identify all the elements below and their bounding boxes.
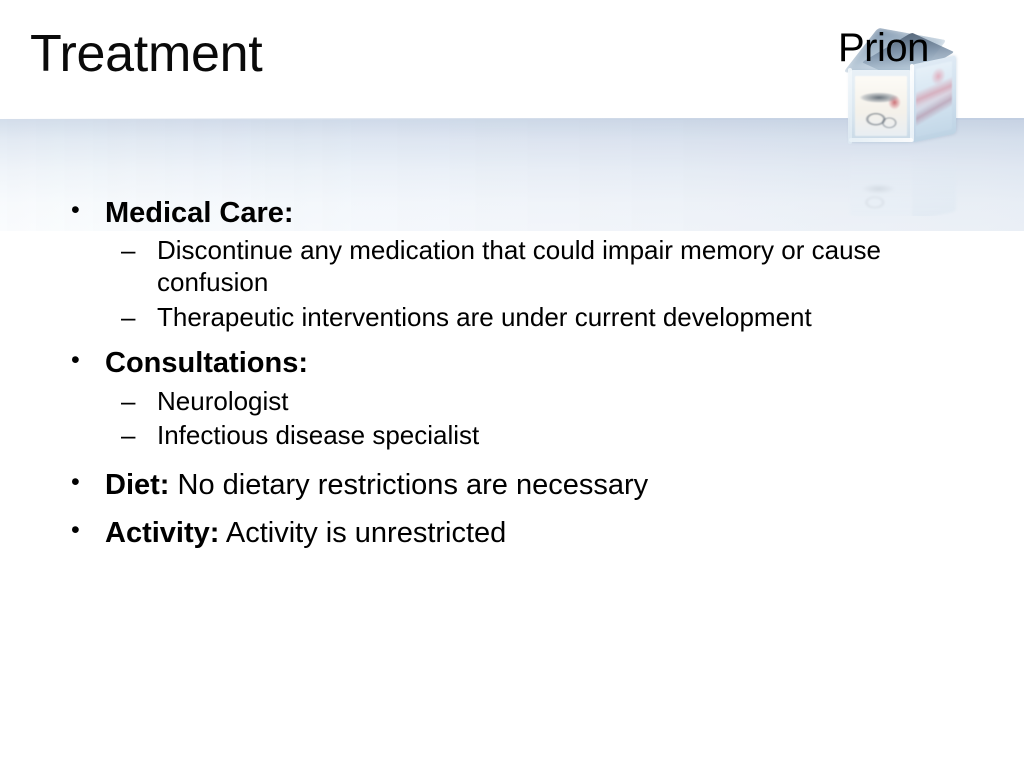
- sub-bullet-marker-icon: –: [121, 386, 135, 418]
- bullet-item-medical-care: • Medical Care:: [64, 194, 894, 232]
- sub-bullet-label: Therapeutic interventions are under curr…: [157, 302, 812, 332]
- cube-edge-bottom: [849, 138, 913, 142]
- bullet-lead-label: Activity:: [105, 517, 219, 549]
- cube-edge-vertical: [910, 64, 914, 142]
- bullet-item-consultations: • Consultations:: [64, 344, 894, 382]
- bullet-lead-label: Consultations:: [105, 347, 308, 379]
- prion-cube-logo: Prion: [836, 22, 972, 212]
- spacer: [64, 455, 894, 466]
- sub-bullet-item: – Neurologist: [64, 386, 894, 418]
- sub-bullet-label: Neurologist: [157, 386, 289, 416]
- bullet-rest-label: Activity is unrestricted: [219, 517, 506, 549]
- page-title: Treatment: [30, 27, 262, 82]
- spacer: [64, 506, 894, 514]
- spacer: [64, 336, 894, 344]
- slide-canvas: Treatment Prion • Medical Car: [0, 0, 1024, 768]
- bullet-item-diet: • Diet: No dietary restrictions are nece…: [64, 466, 894, 504]
- cube-left-face-image: [855, 76, 907, 136]
- cube-right-face-image: [916, 61, 952, 137]
- sub-bullet-label: Infectious disease specialist: [157, 420, 479, 450]
- bullet-marker-icon: •: [71, 466, 80, 499]
- sub-bullet-marker-icon: –: [121, 235, 135, 267]
- logo-wordmark: Prion: [838, 28, 929, 68]
- bullet-marker-icon: •: [71, 194, 80, 227]
- cube-reflection-right-face: [912, 145, 956, 220]
- bullet-rest-label: No dietary restrictions are necessary: [169, 469, 648, 501]
- bullet-lead-label: Medical Care:: [105, 197, 294, 229]
- sub-bullet-item: – Discontinue any medication that could …: [64, 235, 894, 298]
- bullet-marker-icon: •: [71, 514, 80, 547]
- content-body: • Medical Care: – Discontinue any medica…: [64, 194, 894, 555]
- sub-bullet-marker-icon: –: [121, 420, 135, 452]
- sub-bullet-label: Discontinue any medication that could im…: [157, 235, 881, 297]
- bullet-item-activity: • Activity: Activity is unrestricted: [64, 514, 894, 552]
- bullet-lead-label: Diet:: [105, 469, 169, 501]
- sub-bullet-item: – Therapeutic interventions are under cu…: [64, 302, 894, 334]
- sub-bullet-item: – Infectious disease specialist: [64, 420, 894, 452]
- bullet-marker-icon: •: [71, 344, 80, 377]
- cube-left-face: [850, 70, 912, 142]
- cube-edge-left: [848, 68, 852, 144]
- sub-bullet-marker-icon: –: [121, 302, 135, 334]
